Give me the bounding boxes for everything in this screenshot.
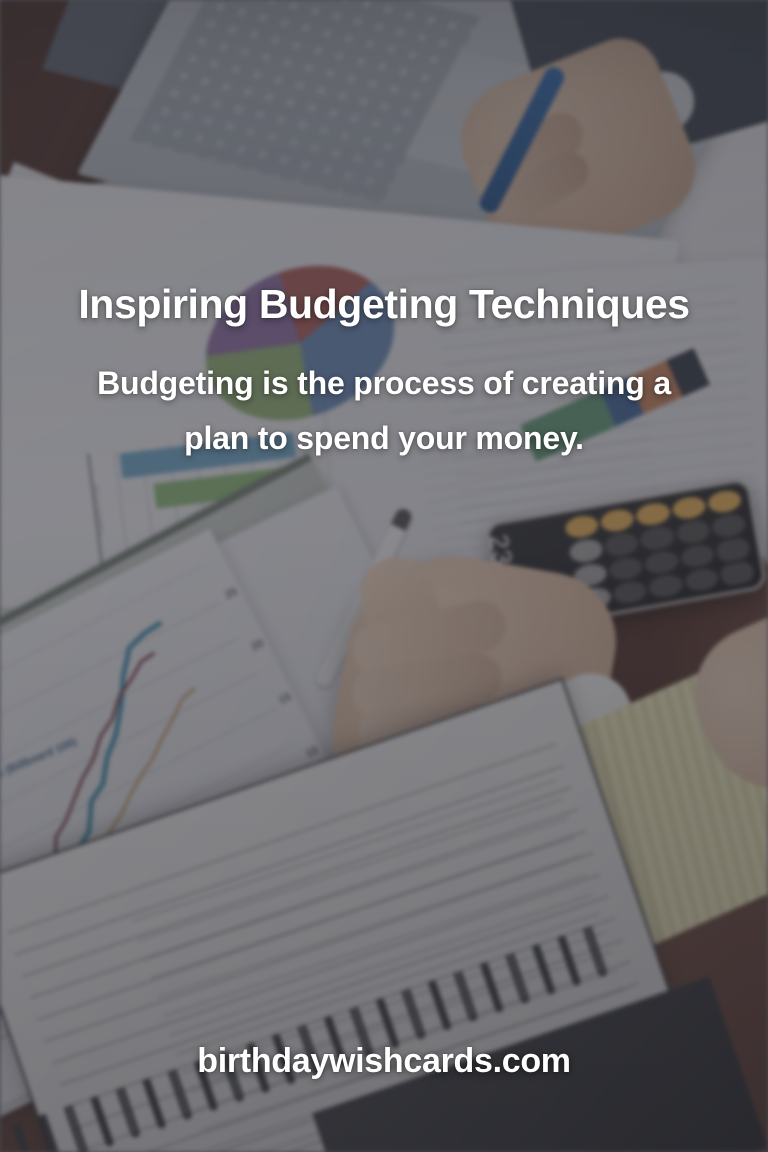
- pinterest-pin-card: Comparison of Cost 80 85 90 95: [0, 0, 768, 1152]
- pin-subtitle: Budgeting is the process of creating a p…: [96, 356, 672, 466]
- text-layer: Inspiring Budgeting Techniques Budgeting…: [0, 0, 768, 1152]
- website-url[interactable]: birthdaywishcards.com: [0, 1043, 768, 1080]
- pin-title: Inspiring Budgeting Techniques: [0, 282, 768, 326]
